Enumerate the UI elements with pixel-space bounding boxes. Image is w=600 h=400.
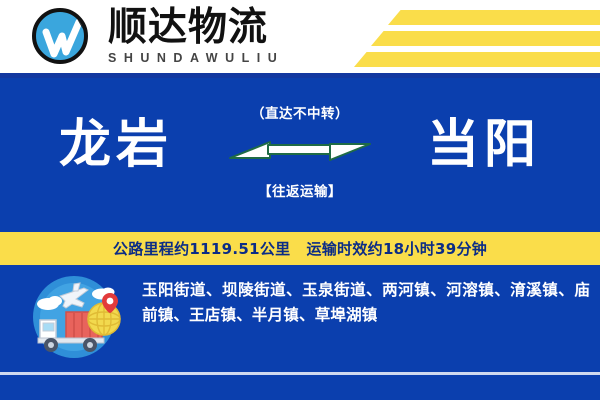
- distance-text: 公路里程约1119.51公里: [113, 238, 291, 259]
- shunda-circle-logo-icon: [32, 8, 88, 64]
- route-band: 龙岩 （直达不中转） 【往返运输】 当阳: [0, 78, 600, 232]
- route-info-bar: 公路里程约1119.51公里 运输时效约18小时39分钟: [0, 232, 600, 265]
- stripe-2: [371, 31, 600, 46]
- brand-name-cn: 顺达物流: [108, 6, 308, 50]
- brand-name-en: SHUNDAWULIU: [108, 51, 308, 66]
- route-tagline-top: （直达不中转）: [232, 102, 368, 122]
- logistics-route-banner: 顺达物流 SHUNDAWULIU 龙岩 （直达不中转）: [0, 0, 600, 400]
- route-tagline-bottom: 【往返运输】: [232, 180, 368, 200]
- duration-text: 运输时效约18小时39分钟: [306, 238, 487, 259]
- coverage-section: 玉阳街道、坝陵街道、玉泉街道、两河镇、河溶镇、淯溪镇、庙前镇、王店镇、半月镇、草…: [0, 265, 600, 372]
- coverage-areas-text: 玉阳街道、坝陵街道、玉泉街道、两河镇、河溶镇、淯溪镇、庙前镇、王店镇、半月镇、草…: [142, 278, 590, 328]
- destination-city: 当阳: [368, 114, 600, 176]
- decorative-yellow-stripes: [330, 0, 600, 73]
- origin-city: 龙岩: [0, 114, 232, 176]
- logistics-truck-globe-plane-icon: [14, 271, 134, 363]
- brand-text-block: 顺达物流 SHUNDAWULIU: [108, 6, 308, 66]
- bottom-fill: [0, 375, 600, 400]
- bidirectional-arrow-icon: [228, 128, 372, 179]
- route-arrow-zone: （直达不中转） 【往返运输】: [232, 102, 368, 212]
- brand-logo: [28, 5, 100, 67]
- banner-header: 顺达物流 SHUNDAWULIU: [0, 0, 600, 73]
- stripe-1: [388, 10, 600, 25]
- stripe-3: [354, 52, 600, 67]
